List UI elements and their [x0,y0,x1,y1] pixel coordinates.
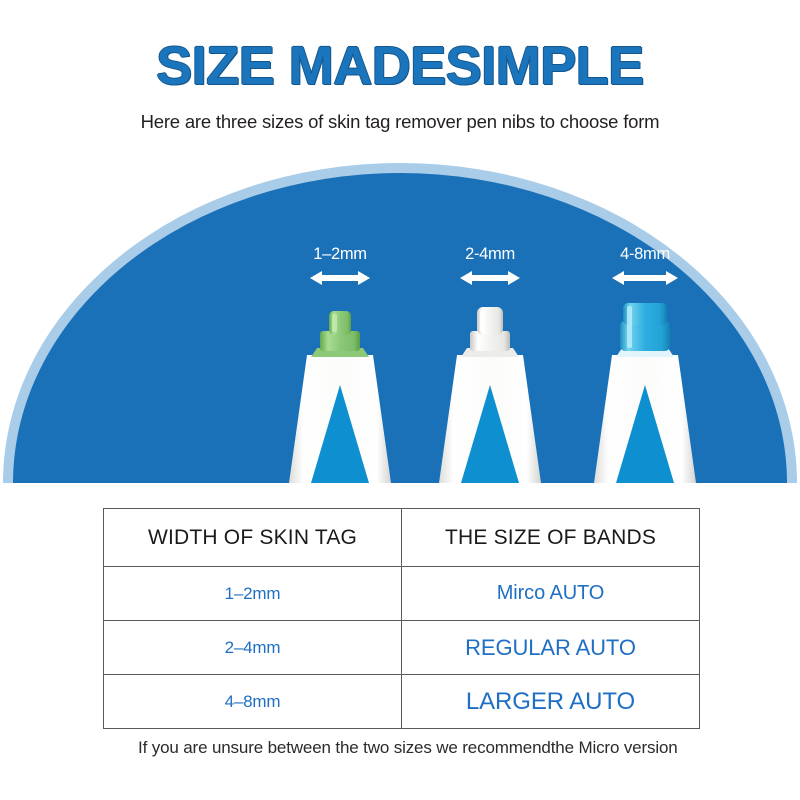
pen-group-larger: 4-8mm [565,253,725,483]
cell-width-2: 2–4mm [104,621,402,675]
width-arrow-regular [458,269,522,287]
cell-width-3: 4–8mm [104,675,402,729]
pen-regular [415,293,565,483]
pen-label-micro: 1–2mm [313,245,367,264]
table-row: 4–8mm LARGER AUTO [104,675,700,729]
page-subtitle: Here are three sizes of skin tag remover… [0,95,800,133]
footnote: If you are unsure between the two sizes … [138,735,698,761]
table-header-bands: THE SIZE OF BANDS [402,509,700,567]
cell-band-2: REGULAR AUTO [402,621,700,675]
page-title: SIZE MADESIMPLE [0,0,800,95]
pen-group-regular: 2-4mm [415,253,565,483]
pen-label-regular: 2-4mm [465,245,515,264]
cell-width-1: 1–2mm [104,567,402,621]
pen-larger [565,293,725,483]
pen-micro [265,293,415,483]
width-arrow-micro [308,269,372,287]
size-table: WIDTH OF SKIN TAG THE SIZE OF BANDS 1–2m… [103,508,700,729]
table-row: 1–2mm Mirco AUTO [104,567,700,621]
illustration-panel: 1–2mm [0,163,800,483]
table-header-row: WIDTH OF SKIN TAG THE SIZE OF BANDS [104,509,700,567]
width-arrow-larger [610,269,680,287]
header: SIZE MADESIMPLE Here are three sizes of … [0,0,800,133]
pen-group-micro: 1–2mm [265,253,415,483]
cell-band-1: Mirco AUTO [402,567,700,621]
table-row: 2–4mm REGULAR AUTO [104,621,700,675]
pen-label-larger: 4-8mm [620,245,670,264]
cell-band-3: LARGER AUTO [402,675,700,729]
table-header-width: WIDTH OF SKIN TAG [104,509,402,567]
